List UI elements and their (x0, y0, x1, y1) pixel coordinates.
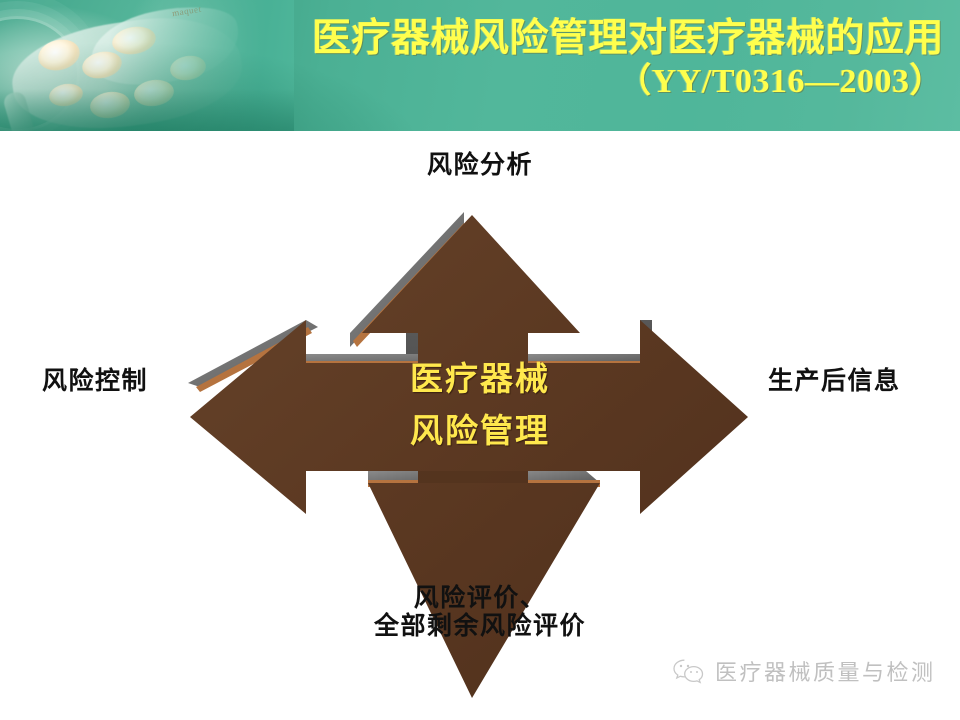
cross-arrow-shading (418, 471, 528, 483)
four-way-arrow-diagram: 医疗器械 风险管理 风险分析 风险控制 生产后信息 风险评价、 全部剩余风险评价 (0, 131, 960, 720)
label-risk-evaluation-line-1: 风险评价、 (0, 584, 960, 612)
label-risk-analysis: 风险分析 (0, 151, 960, 179)
surgical-lamp-photo: maquet (0, 0, 294, 131)
title-block: 医疗器械风险管理对医疗器械的应用 （YY/T0316—2003） (312, 18, 944, 101)
label-risk-evaluation-line-2: 全部剩余风险评价 (0, 612, 960, 640)
header-banner: maquet 医疗器械风险管理对医疗器械的应用 （YY/T0316—2003） (0, 0, 960, 131)
page-subtitle-standard-code: （YY/T0316—2003） (312, 64, 944, 101)
slide-canvas: maquet 医疗器械风险管理对医疗器械的应用 （YY/T0316—2003） (0, 0, 960, 720)
center-label-line-2: 风险管理 (0, 404, 960, 452)
wechat-icon (672, 658, 706, 685)
page-title: 医疗器械风险管理对医疗器械的应用 (312, 18, 944, 60)
photo-bottom-fade (0, 89, 294, 131)
watermark: 医疗器械质量与检测 (672, 655, 936, 687)
watermark-text: 医疗器械质量与检测 (715, 655, 936, 687)
label-risk-evaluation: 风险评价、 全部剩余风险评价 (0, 584, 960, 640)
center-label-line-1: 医疗器械 (0, 352, 960, 400)
